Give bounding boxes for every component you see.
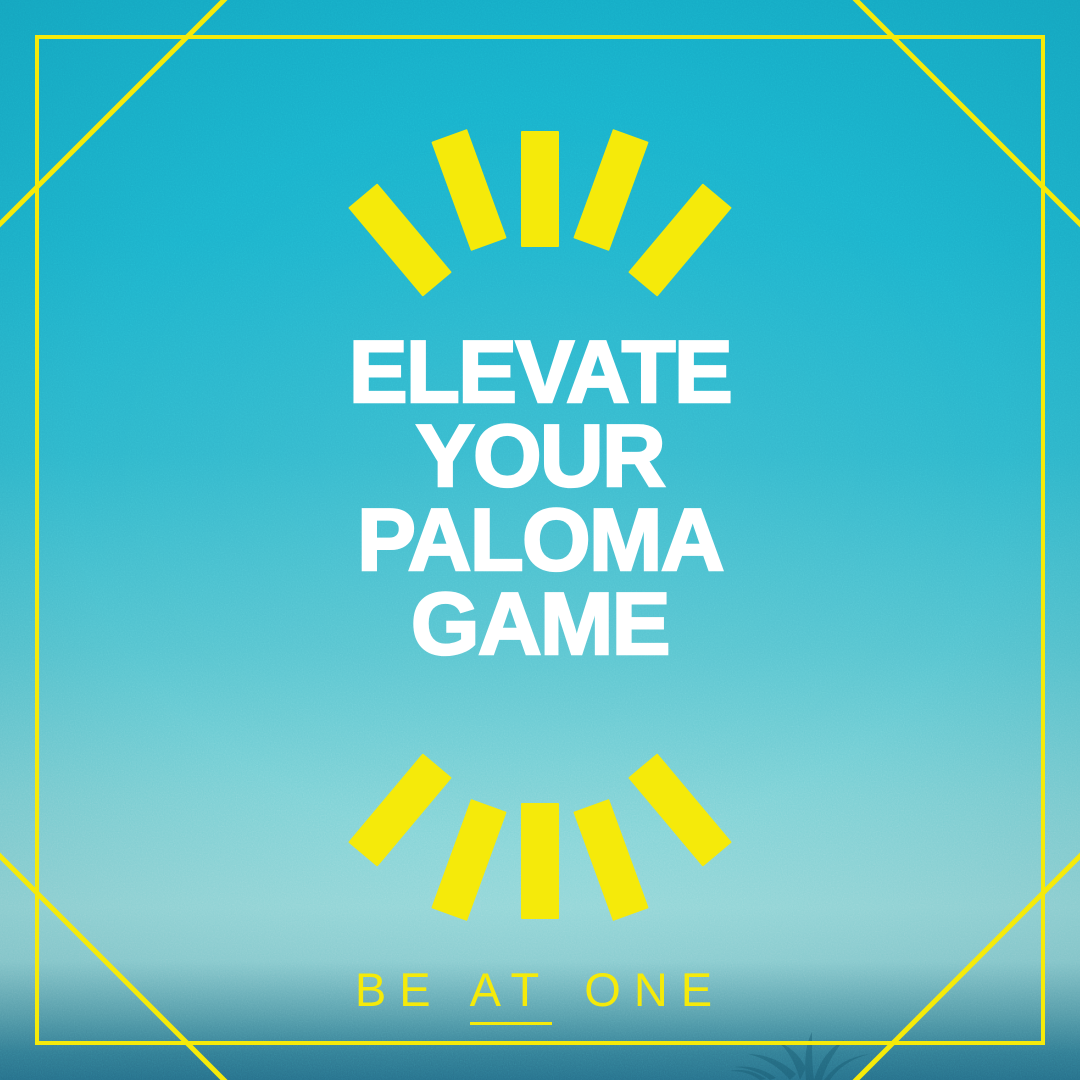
logo-word-one: ONE bbox=[584, 966, 725, 1013]
logo-word-be: BE bbox=[355, 966, 444, 1013]
headline-block: ELEVATE YOUR PALOMA GAME bbox=[0, 330, 1080, 666]
brand-logo: BE AT ONE bbox=[0, 966, 1080, 1025]
logo-word-at: AT bbox=[470, 966, 553, 1025]
headline-line-3: PALOMA bbox=[0, 498, 1080, 582]
headline-line-1: ELEVATE bbox=[0, 330, 1080, 414]
headline-line-4: GAME bbox=[0, 582, 1080, 666]
headline-line-2: YOUR bbox=[0, 414, 1080, 498]
poster-canvas: ELEVATE YOUR PALOMA GAME BE AT ONE bbox=[0, 0, 1080, 1080]
